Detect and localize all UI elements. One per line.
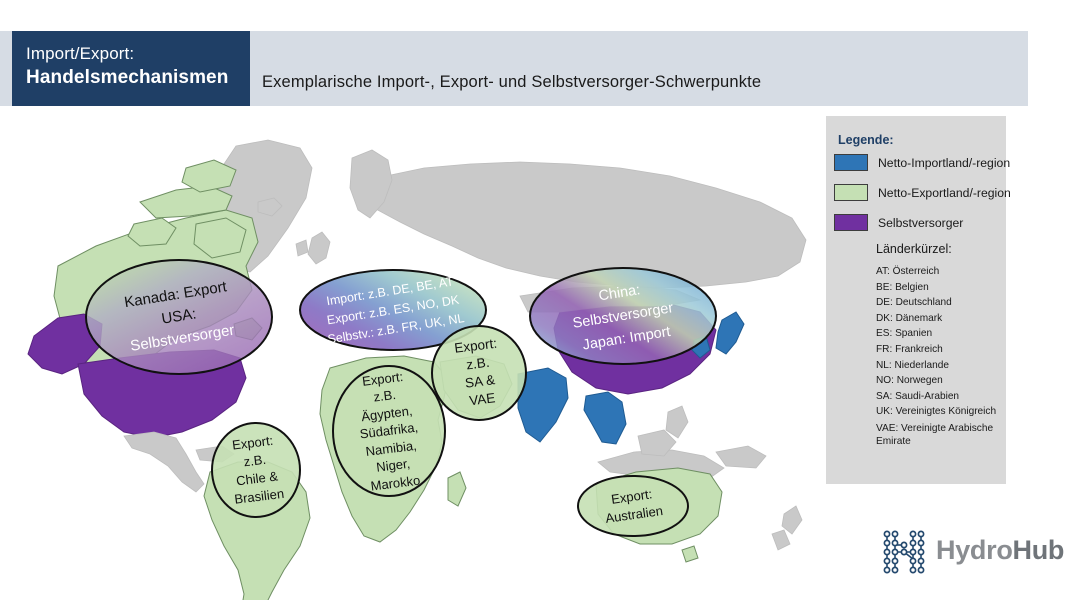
callout-africa-shape — [331, 364, 447, 498]
legend-item-import[interactable]: Netto-Importland/-region — [834, 154, 1010, 171]
legend-title: Legende: — [838, 133, 894, 147]
callout-south-america[interactable]: Export: z.B. Chile & Brasilien — [210, 421, 302, 519]
abbreviation-item: VAE: Vereinigte Arabische Emirate — [876, 420, 1006, 449]
callout-australia-shape — [576, 474, 690, 538]
header-title-box: Import/Export: Handelsmechanismen — [12, 31, 250, 106]
legend-label-import: Netto-Importland/-region — [878, 156, 1010, 170]
abbreviation-item: UK: Vereinigtes Königreich — [876, 404, 1006, 420]
slide-canvas: Import/Export: Handelsmechanismen Exempl… — [0, 0, 1068, 600]
landmass-ireland — [296, 240, 308, 256]
legend-item-self[interactable]: Selbstversorger — [834, 214, 963, 231]
abbreviation-item: FR: Frankreich — [876, 342, 1006, 358]
landmass-philippines — [666, 406, 688, 438]
landmass-southeast-asia — [584, 392, 626, 444]
hydrohub-logo-text: HydroHub — [936, 535, 1064, 566]
abbreviation-item: SA: Saudi-Arabien — [876, 389, 1006, 405]
legend-label-export: Netto-Exportland/-region — [878, 186, 1011, 200]
callout-australia[interactable]: Export: Australien — [576, 474, 690, 538]
callout-east-asia[interactable]: China: Selbstversorger Japan: Import — [528, 266, 718, 366]
legend-item-export[interactable]: Netto-Exportland/-region — [834, 184, 1011, 201]
landmass-tasmania — [682, 546, 698, 562]
legend-panel: Legende: Netto-Importland/-region Netto-… — [826, 116, 1006, 484]
abbreviation-item: NL: Niederlande — [876, 358, 1006, 374]
landmass-japan — [716, 312, 744, 354]
legend-abbreviation-list: AT: Österreich BE: Belgien DE: Deutschla… — [876, 264, 1006, 449]
legend-swatch-export — [834, 184, 868, 201]
abbreviation-item: NO: Norwegen — [876, 373, 1006, 389]
header-title-line1: Import/Export: — [26, 43, 134, 64]
landmass-new-guinea — [716, 446, 766, 468]
logo-name-part1: Hydro — [936, 535, 1013, 565]
abbreviation-item: AT: Österreich — [876, 264, 1006, 280]
abbreviation-item: BE: Belgien — [876, 280, 1006, 296]
legend-swatch-import — [834, 154, 868, 171]
hydrohub-logo-mark-icon — [880, 527, 930, 577]
landmass-new-zealand-south — [772, 530, 790, 550]
landmass-uk — [308, 232, 330, 264]
header-subtitle: Exemplarische Import-, Export- und Selbs… — [262, 73, 761, 92]
logo-name-part2: Hub — [1013, 535, 1065, 565]
header-title-line2: Handelsmechanismen — [26, 66, 228, 89]
callout-south-america-shape — [210, 421, 302, 519]
abbreviation-item: DK: Dänemark — [876, 311, 1006, 327]
abbreviation-item: DE: Deutschland — [876, 295, 1006, 311]
callout-north-america[interactable]: Kanada: Export USA: Selbstversorger — [84, 258, 274, 376]
legend-abbreviations-heading: Länderkürzel: — [876, 242, 952, 256]
legend-label-self: Selbstversorger — [878, 216, 963, 230]
landmass-mexico — [124, 432, 204, 492]
callout-africa[interactable]: Export: z.B. Ägypten, Südafrika, Namibia… — [331, 364, 447, 498]
callout-east-asia-shape — [528, 266, 718, 366]
hydrohub-logo: HydroHub — [880, 527, 1050, 579]
callout-north-america-shape — [84, 258, 274, 376]
legend-swatch-self — [834, 214, 868, 231]
abbreviation-item: ES: Spanien — [876, 326, 1006, 342]
landmass-madagascar — [448, 472, 466, 506]
landmass-new-zealand — [782, 506, 802, 534]
